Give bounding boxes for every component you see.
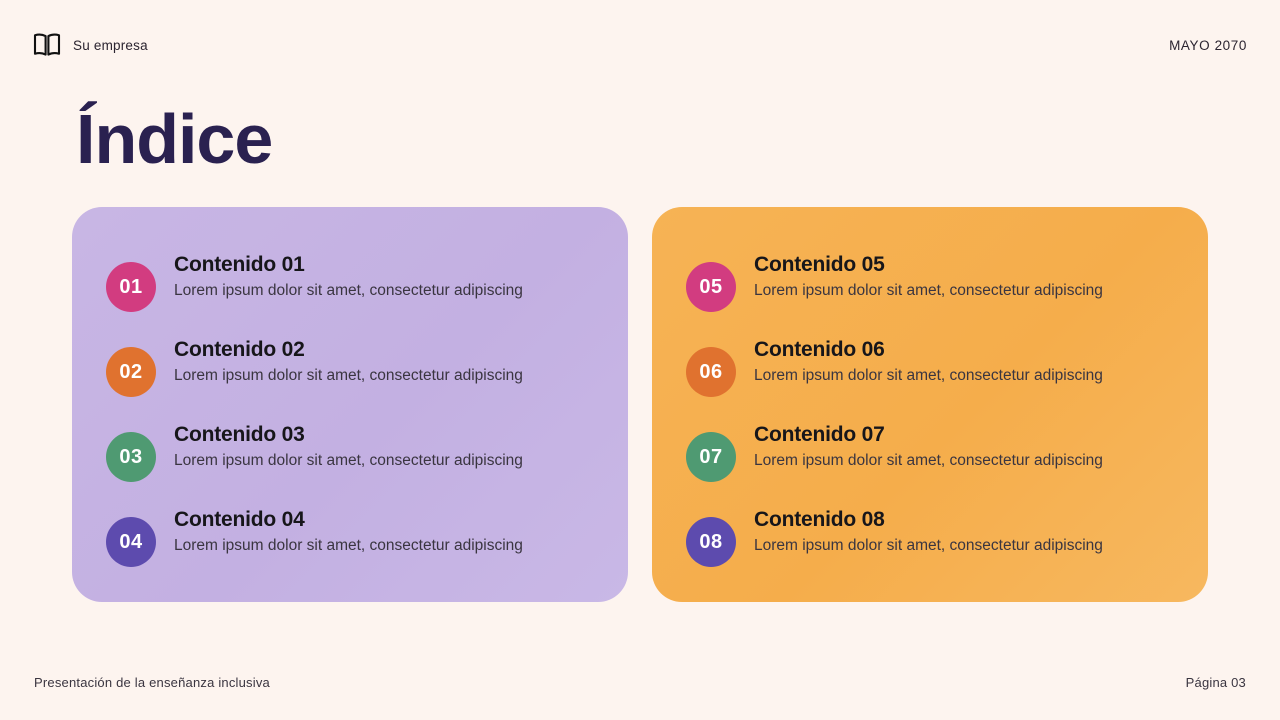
list-item[interactable]: 06 Contenido 06 Lorem ipsum dolor sit am… (686, 336, 1174, 397)
item-title: Contenido 02 (174, 336, 523, 364)
item-number-badge: 05 (686, 262, 736, 312)
slide-footer: Presentación de la enseñanza inclusiva P… (34, 675, 1246, 690)
brand-label: Su empresa (73, 38, 148, 53)
item-text: Contenido 08 Lorem ipsum dolor sit amet,… (754, 506, 1103, 558)
item-text: Contenido 07 Lorem ipsum dolor sit amet,… (754, 421, 1103, 473)
item-text: Contenido 04 Lorem ipsum dolor sit amet,… (174, 506, 523, 558)
item-description: Lorem ipsum dolor sit amet, consectetur … (174, 365, 523, 387)
item-title: Contenido 06 (754, 336, 1103, 364)
footer-presentation-title: Presentación de la enseñanza inclusiva (34, 675, 270, 690)
item-description: Lorem ipsum dolor sit amet, consectetur … (174, 280, 523, 302)
brand: Su empresa (33, 32, 148, 58)
item-title: Contenido 03 (174, 421, 523, 449)
item-text: Contenido 06 Lorem ipsum dolor sit amet,… (754, 336, 1103, 388)
item-number-badge: 08 (686, 517, 736, 567)
list-item[interactable]: 04 Contenido 04 Lorem ipsum dolor sit am… (106, 506, 594, 567)
item-title: Contenido 08 (754, 506, 1103, 534)
item-number-badge: 01 (106, 262, 156, 312)
card-left: 01 Contenido 01 Lorem ipsum dolor sit am… (72, 207, 628, 602)
item-title: Contenido 04 (174, 506, 523, 534)
card-right: 05 Contenido 05 Lorem ipsum dolor sit am… (652, 207, 1208, 602)
item-title: Contenido 01 (174, 251, 523, 279)
item-text: Contenido 02 Lorem ipsum dolor sit amet,… (174, 336, 523, 388)
item-title: Contenido 07 (754, 421, 1103, 449)
list-item[interactable]: 08 Contenido 08 Lorem ipsum dolor sit am… (686, 506, 1174, 567)
item-title: Contenido 05 (754, 251, 1103, 279)
item-description: Lorem ipsum dolor sit amet, consectetur … (754, 365, 1103, 387)
list-item[interactable]: 07 Contenido 07 Lorem ipsum dolor sit am… (686, 421, 1174, 482)
item-description: Lorem ipsum dolor sit amet, consectetur … (754, 450, 1103, 472)
item-number-badge: 04 (106, 517, 156, 567)
list-item[interactable]: 02 Contenido 02 Lorem ipsum dolor sit am… (106, 336, 594, 397)
item-description: Lorem ipsum dolor sit amet, consectetur … (754, 535, 1103, 557)
content-cards: 01 Contenido 01 Lorem ipsum dolor sit am… (72, 207, 1208, 602)
slide: Su empresa MAYO 2070 Índice 01 Contenido… (0, 0, 1280, 720)
item-text: Contenido 05 Lorem ipsum dolor sit amet,… (754, 251, 1103, 303)
list-item[interactable]: 05 Contenido 05 Lorem ipsum dolor sit am… (686, 251, 1174, 312)
item-number-badge: 03 (106, 432, 156, 482)
item-text: Contenido 03 Lorem ipsum dolor sit amet,… (174, 421, 523, 473)
footer-page-number: Página 03 (1186, 675, 1246, 690)
item-description: Lorem ipsum dolor sit amet, consectetur … (174, 450, 523, 472)
item-number-badge: 07 (686, 432, 736, 482)
item-number-badge: 02 (106, 347, 156, 397)
list-item[interactable]: 01 Contenido 01 Lorem ipsum dolor sit am… (106, 251, 594, 312)
item-description: Lorem ipsum dolor sit amet, consectetur … (754, 280, 1103, 302)
item-text: Contenido 01 Lorem ipsum dolor sit amet,… (174, 251, 523, 303)
open-book-icon (33, 32, 61, 58)
item-number-badge: 06 (686, 347, 736, 397)
slide-header: Su empresa MAYO 2070 (33, 28, 1247, 62)
list-item[interactable]: 03 Contenido 03 Lorem ipsum dolor sit am… (106, 421, 594, 482)
page-title: Índice (76, 104, 272, 174)
header-date: MAYO 2070 (1169, 38, 1247, 53)
item-description: Lorem ipsum dolor sit amet, consectetur … (174, 535, 523, 557)
